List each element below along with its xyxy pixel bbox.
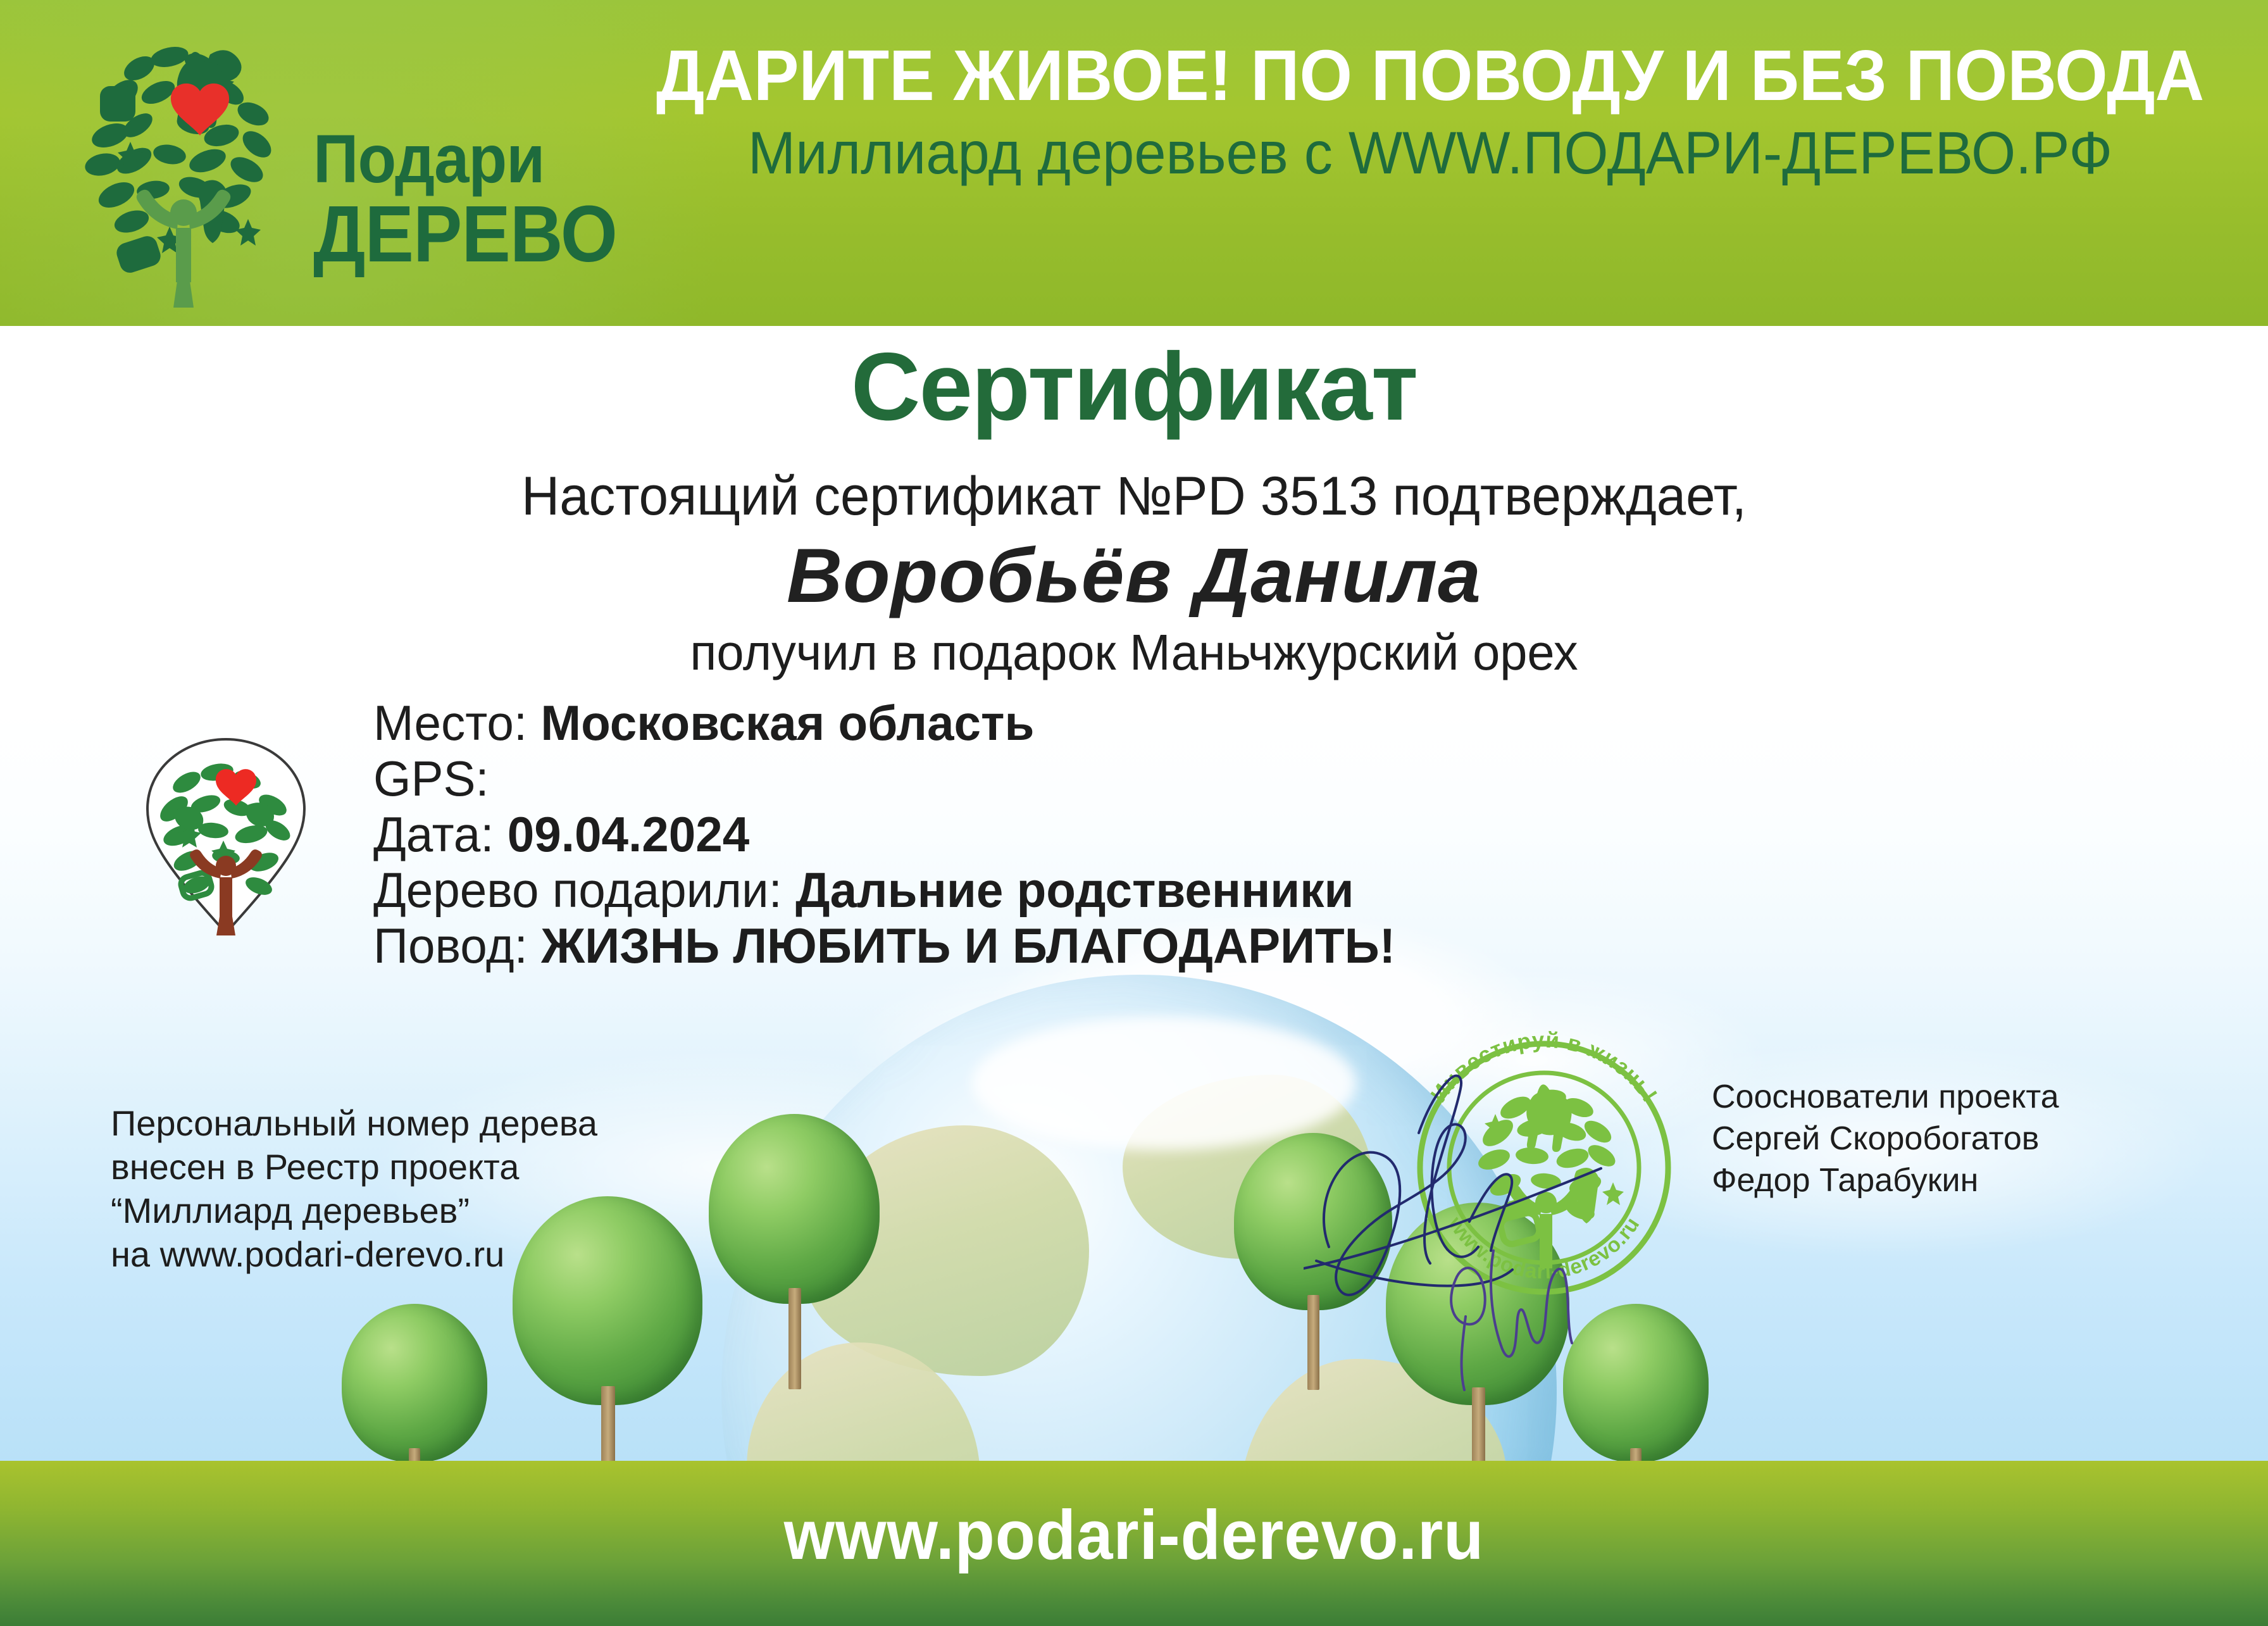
gift-description: получил в подарок Маньчжурский орех — [34, 623, 2234, 682]
footer-banner: www.podari-derevo.ru — [0, 1461, 2268, 1626]
logo-line-1: Подари — [313, 125, 617, 192]
detail-key-donor: Дерево подарили: — [373, 862, 782, 918]
globe-cloud — [972, 1016, 1356, 1150]
registry-note-line-4: на www.podari-derevo.ru — [111, 1232, 597, 1276]
header-slogan-block: ДАРИТЕ ЖИВОЕ! ПО ПОВОДУ И БЕЗ ПОВОДА Мил… — [614, 37, 2246, 187]
map-pin-tree-icon — [142, 734, 310, 937]
tree-illustration — [1234, 1133, 1392, 1386]
certificate-statement: Настоящий сертификат №PD 3513 подтвержда… — [34, 465, 2234, 528]
founder-name-2: Федор Тарабукин — [1712, 1160, 2059, 1201]
detail-row-occasion: Повод: ЖИЗНЬ ЛЮБИТЬ И БЛАГОДАРИТЬ! — [373, 918, 1862, 973]
header-banner: Подари ДЕРЕВО ДАРИТЕ ЖИВОЕ! ПО ПОВОДУ И … — [0, 0, 2268, 326]
detail-value-place: Московская область — [540, 695, 1034, 751]
detail-row-gps: GPS: — [373, 751, 1862, 806]
tree-with-heart-logo-icon — [63, 18, 304, 309]
brand-logo[interactable]: Подари ДЕРЕВО — [63, 11, 601, 315]
tree-illustration — [709, 1114, 880, 1386]
registry-note-line-1: Персональный номер дерева — [111, 1101, 597, 1145]
header-subslogan: Миллиард деревьев с WWW.ПОДАРИ-ДЕРЕВО.РФ — [655, 120, 2206, 187]
founders-caption: Сооснователи проекта — [1712, 1076, 2059, 1118]
detail-value-occasion: ЖИЗНЬ ЛЮБИТЬ И БЛАГОДАРИТЬ! — [541, 918, 1395, 973]
detail-key-date: Дата: — [373, 806, 494, 862]
certificate-title: Сертификат — [0, 339, 2268, 435]
detail-value-donor: Дальние родственники — [795, 862, 1354, 918]
logo-line-2: ДЕРЕВО — [313, 195, 617, 273]
detail-key-occasion: Повод: — [373, 918, 528, 973]
registry-note-line-2: внесен в Реестр проекта — [111, 1145, 597, 1189]
header-slogan: ДАРИТЕ ЖИВОЕ! ПО ПОВОДУ И БЕЗ ПОВОДА — [655, 37, 2206, 114]
founder-name-1: Сергей Скоробогатов — [1712, 1118, 2059, 1160]
detail-row-donor: Дерево подарили: Дальние родственники — [373, 862, 1862, 918]
certificate-page: Подари ДЕРЕВО ДАРИТЕ ЖИВОЕ! ПО ПОВОДУ И … — [0, 0, 2268, 1626]
detail-row-date: Дата: 09.04.2024 — [373, 806, 1862, 862]
detail-key-gps: GPS: — [373, 751, 489, 806]
detail-row-place: Место: Московская область — [373, 695, 1862, 751]
details-block: Место: Московская область GPS: Дата: 09.… — [373, 695, 1892, 973]
recipient-name: Воробьёв Данила — [0, 535, 2268, 616]
registry-note-line-3: “Миллиард деревьев” — [111, 1189, 597, 1232]
detail-key-place: Место: — [373, 695, 527, 751]
round-seal-stamp: Инвестируй в жизнь! www.podari-derevo.ru — [1389, 1013, 1699, 1323]
detail-value-date: 09.04.2024 — [508, 806, 750, 862]
registry-note: Персональный номер дерева внесен в Реест… — [111, 1101, 597, 1276]
logo-wordmark: Подари ДЕРЕВО — [313, 125, 644, 273]
founders-block: Сооснователи проекта Сергей Скоробогатов… — [1712, 1076, 2059, 1201]
footer-website-url[interactable]: www.podari-derevo.ru — [68, 1495, 2200, 1575]
